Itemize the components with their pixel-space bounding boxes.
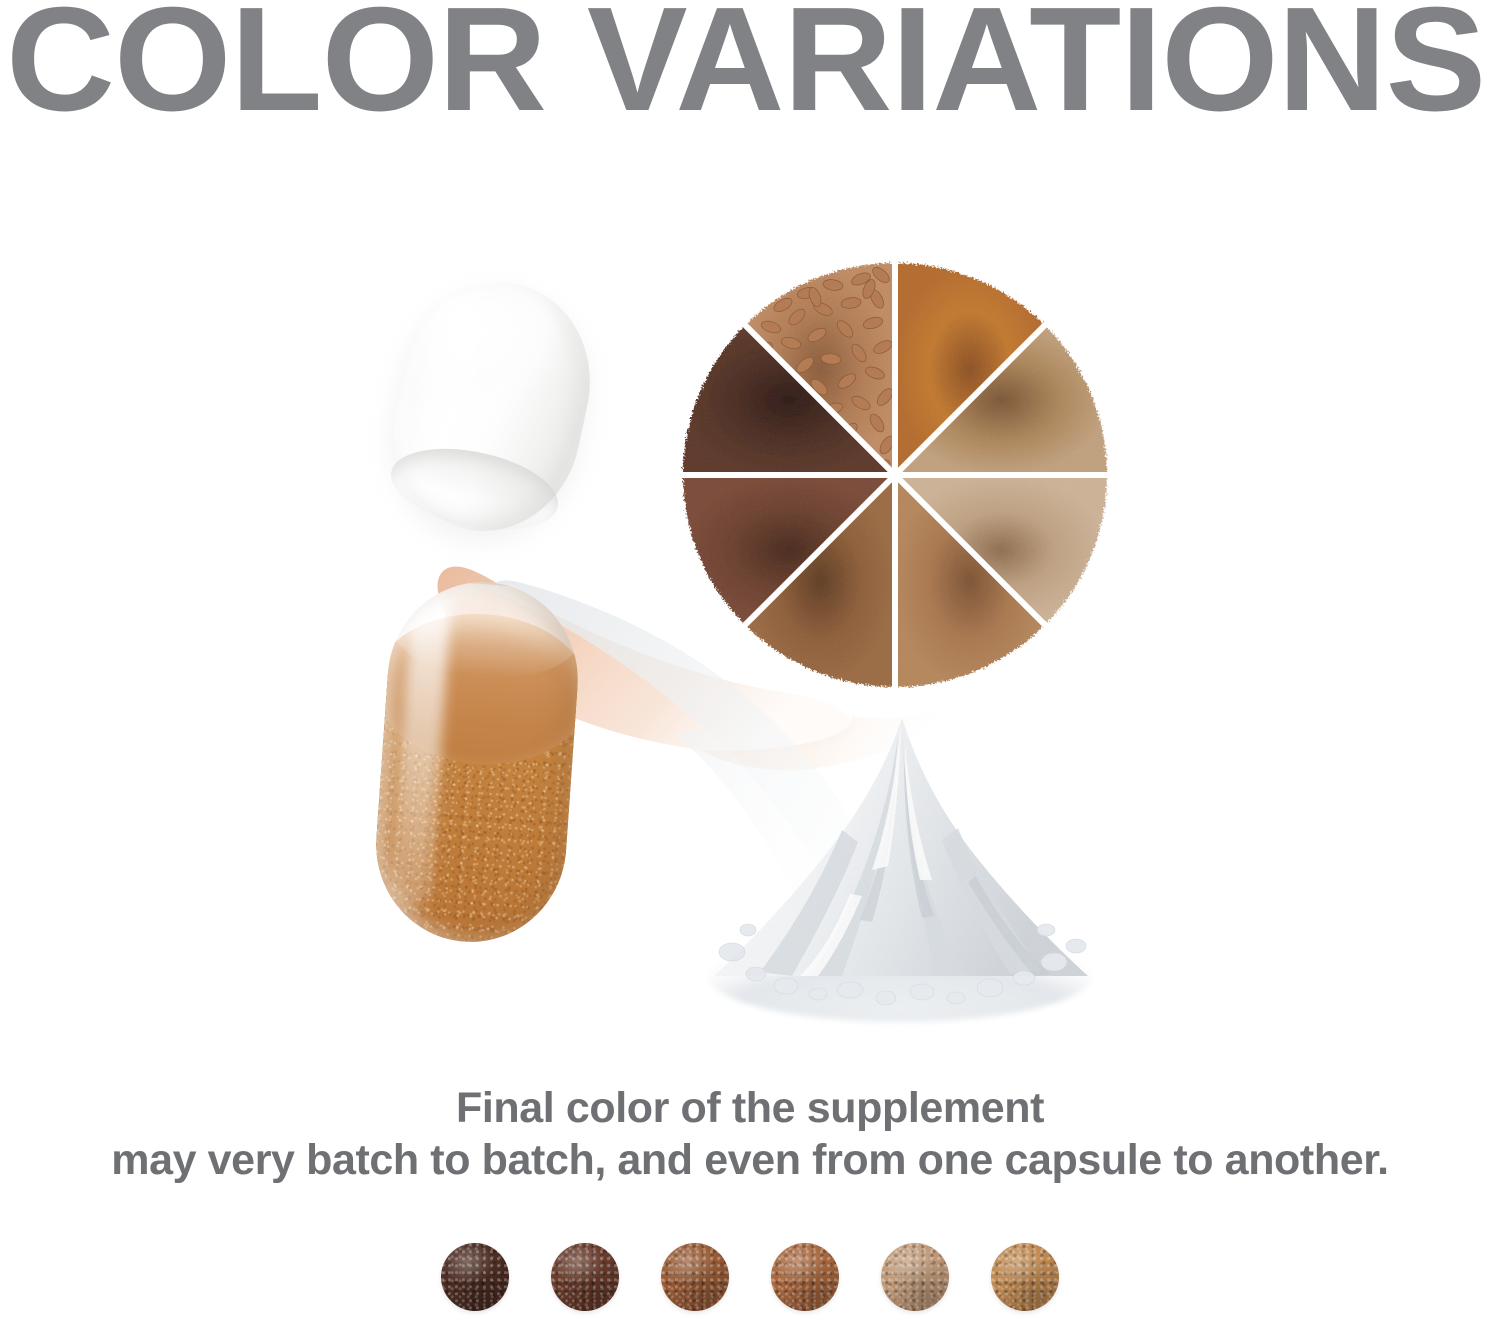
swatch-4-copper-brown	[771, 1243, 839, 1311]
wheel-center-hub	[888, 468, 902, 482]
swatch-2-dark-brown	[551, 1243, 619, 1311]
caption-line-2: may very batch to batch, and even from o…	[0, 1134, 1500, 1186]
white-powder-pile	[690, 690, 1110, 1030]
capsule-powder-fill	[370, 673, 584, 948]
filled-capsule-body	[370, 576, 585, 948]
caption-line-1: Final color of the supplement	[456, 1084, 1044, 1132]
swatch-6-golden-tan	[991, 1243, 1059, 1311]
swatch-1-dark-chocolate	[441, 1243, 509, 1311]
artwork-stage	[0, 150, 1500, 1070]
color-wheel	[665, 245, 1125, 705]
page-title: COLOR VARIATIONS	[6, 0, 1500, 134]
caption: Final color of the supplement may very b…	[0, 1082, 1500, 1186]
clear-capsule-cap	[375, 265, 609, 548]
color-swatch-row	[0, 1237, 1500, 1317]
swatch-3-medium-brown	[661, 1243, 729, 1311]
powder-surface-dome	[370, 607, 584, 772]
swatch-5-light-tan	[881, 1243, 949, 1311]
